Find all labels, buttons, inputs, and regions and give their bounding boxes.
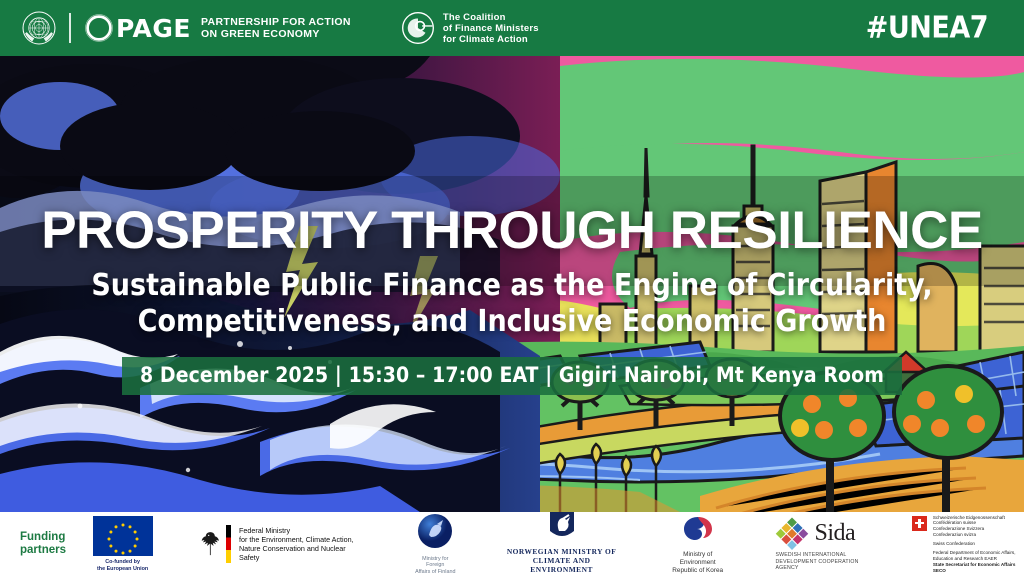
eu-stars-icon bbox=[93, 516, 153, 556]
funding-label-line1: Funding bbox=[20, 531, 87, 544]
sida-diamond-icon bbox=[775, 516, 809, 550]
logo-germany-federal-ministry: Federal Ministry for the Environment, Cl… bbox=[198, 525, 362, 563]
korea-text: Ministry of Environment Republic of Kore… bbox=[666, 551, 730, 575]
header-bar: PAGE PARTNERSHIP FOR ACTION ON GREEN ECO… bbox=[0, 0, 1024, 56]
finland-lion-icon bbox=[417, 513, 453, 549]
norway-line1: NORWEGIAN MINISTRY OF bbox=[503, 547, 620, 556]
logo-norway-ministry: NORWEGIAN MINISTRY OF CLIMATE AND ENVIRO… bbox=[503, 511, 620, 576]
germany-line2: for the Environment, Climate Action, bbox=[239, 535, 361, 544]
hero-artwork bbox=[0, 56, 1024, 512]
norway-coat-of-arms-icon bbox=[549, 511, 575, 541]
coalition-line3: for Climate Action bbox=[443, 34, 539, 45]
korea-line1: Ministry of Environment bbox=[666, 551, 730, 567]
page-circle-icon bbox=[84, 13, 114, 43]
logo-divider bbox=[69, 13, 71, 43]
logo-european-union: Co-funded by the European Union bbox=[93, 516, 153, 572]
event-banner-page: PAGE PARTNERSHIP FOR ACTION ON GREEN ECO… bbox=[0, 0, 1024, 576]
sida-row: Sida bbox=[775, 516, 877, 550]
coalition-logo: The Coalition of Finance Ministers for C… bbox=[401, 11, 539, 45]
korea-line2: Republic of Korea bbox=[666, 567, 730, 575]
funding-label-line2: partners bbox=[20, 544, 87, 557]
eu-caption-line2: the European Union bbox=[93, 566, 153, 572]
footer-partners-bar: Funding partners Co- bbox=[0, 512, 1024, 576]
funding-partners-label: Funding partners bbox=[20, 531, 87, 557]
logo-sida: Sida SWEDISH INTERNATIONAL DEVELOPMENT C… bbox=[775, 516, 877, 571]
artwork-illustration bbox=[0, 56, 1024, 512]
swiss-cross-icon bbox=[912, 516, 927, 531]
korea-taegeuk-icon bbox=[682, 514, 714, 544]
page-tagline-line1: PARTNERSHIP FOR ACTION bbox=[201, 16, 351, 28]
swiss-line8: State Secretariat for Economic Affairs S… bbox=[933, 562, 1024, 574]
german-flag-bar bbox=[226, 525, 231, 563]
swiss-text: Schweizerische Eidgenossenschaft Confédé… bbox=[933, 515, 1024, 574]
coalition-line2: of Finance Ministers bbox=[443, 23, 539, 34]
page-tagline: PARTNERSHIP FOR ACTION ON GREEN ECONOMY bbox=[201, 16, 351, 40]
page-wordmark: PAGE bbox=[116, 14, 191, 43]
germany-ministry-text: Federal Ministry for the Environment, Cl… bbox=[239, 526, 361, 563]
german-eagle-icon bbox=[198, 529, 223, 559]
eu-flag-icon bbox=[93, 516, 153, 556]
page-tagline-line2: ON GREEN ECONOMY bbox=[201, 28, 351, 40]
coalition-line1: The Coalition bbox=[443, 12, 539, 23]
logo-korea-ministry: Ministry of Environment Republic of Kore… bbox=[666, 514, 730, 575]
finland-line1: Ministry for Foreign bbox=[413, 556, 457, 569]
finland-line2: Affairs of Finland bbox=[413, 569, 457, 576]
germany-line1: Federal Ministry bbox=[239, 526, 361, 535]
logo-finland-ministry: Ministry for Foreign Affairs of Finland bbox=[413, 513, 457, 576]
finland-text: Ministry for Foreign Affairs of Finland bbox=[413, 556, 457, 576]
header-logos: PAGE PARTNERSHIP FOR ACTION ON GREEN ECO… bbox=[0, 11, 539, 45]
un-emblem-icon bbox=[22, 11, 56, 45]
sida-line2: DEVELOPMENT COOPERATION AGENCY bbox=[775, 559, 877, 572]
coalition-text: The Coalition of Finance Ministers for C… bbox=[443, 12, 539, 45]
event-hashtag: #UNEA7 bbox=[866, 11, 988, 46]
norway-text: NORWEGIAN MINISTRY OF CLIMATE AND ENVIRO… bbox=[503, 547, 620, 574]
logo-swiss-confederation-seco: Schweizerische Eidgenossenschaft Confédé… bbox=[912, 515, 1024, 574]
germany-line3: Nature Conservation and Nuclear Safety bbox=[239, 544, 361, 562]
sida-text: SWEDISH INTERNATIONAL DEVELOPMENT COOPER… bbox=[775, 552, 877, 571]
coalition-circle-icon bbox=[401, 11, 435, 45]
norway-line2: CLIMATE AND ENVIRONMENT bbox=[503, 556, 620, 574]
eu-caption: Co-funded by the European Union bbox=[93, 559, 153, 572]
sida-wordmark: Sida bbox=[814, 520, 855, 547]
